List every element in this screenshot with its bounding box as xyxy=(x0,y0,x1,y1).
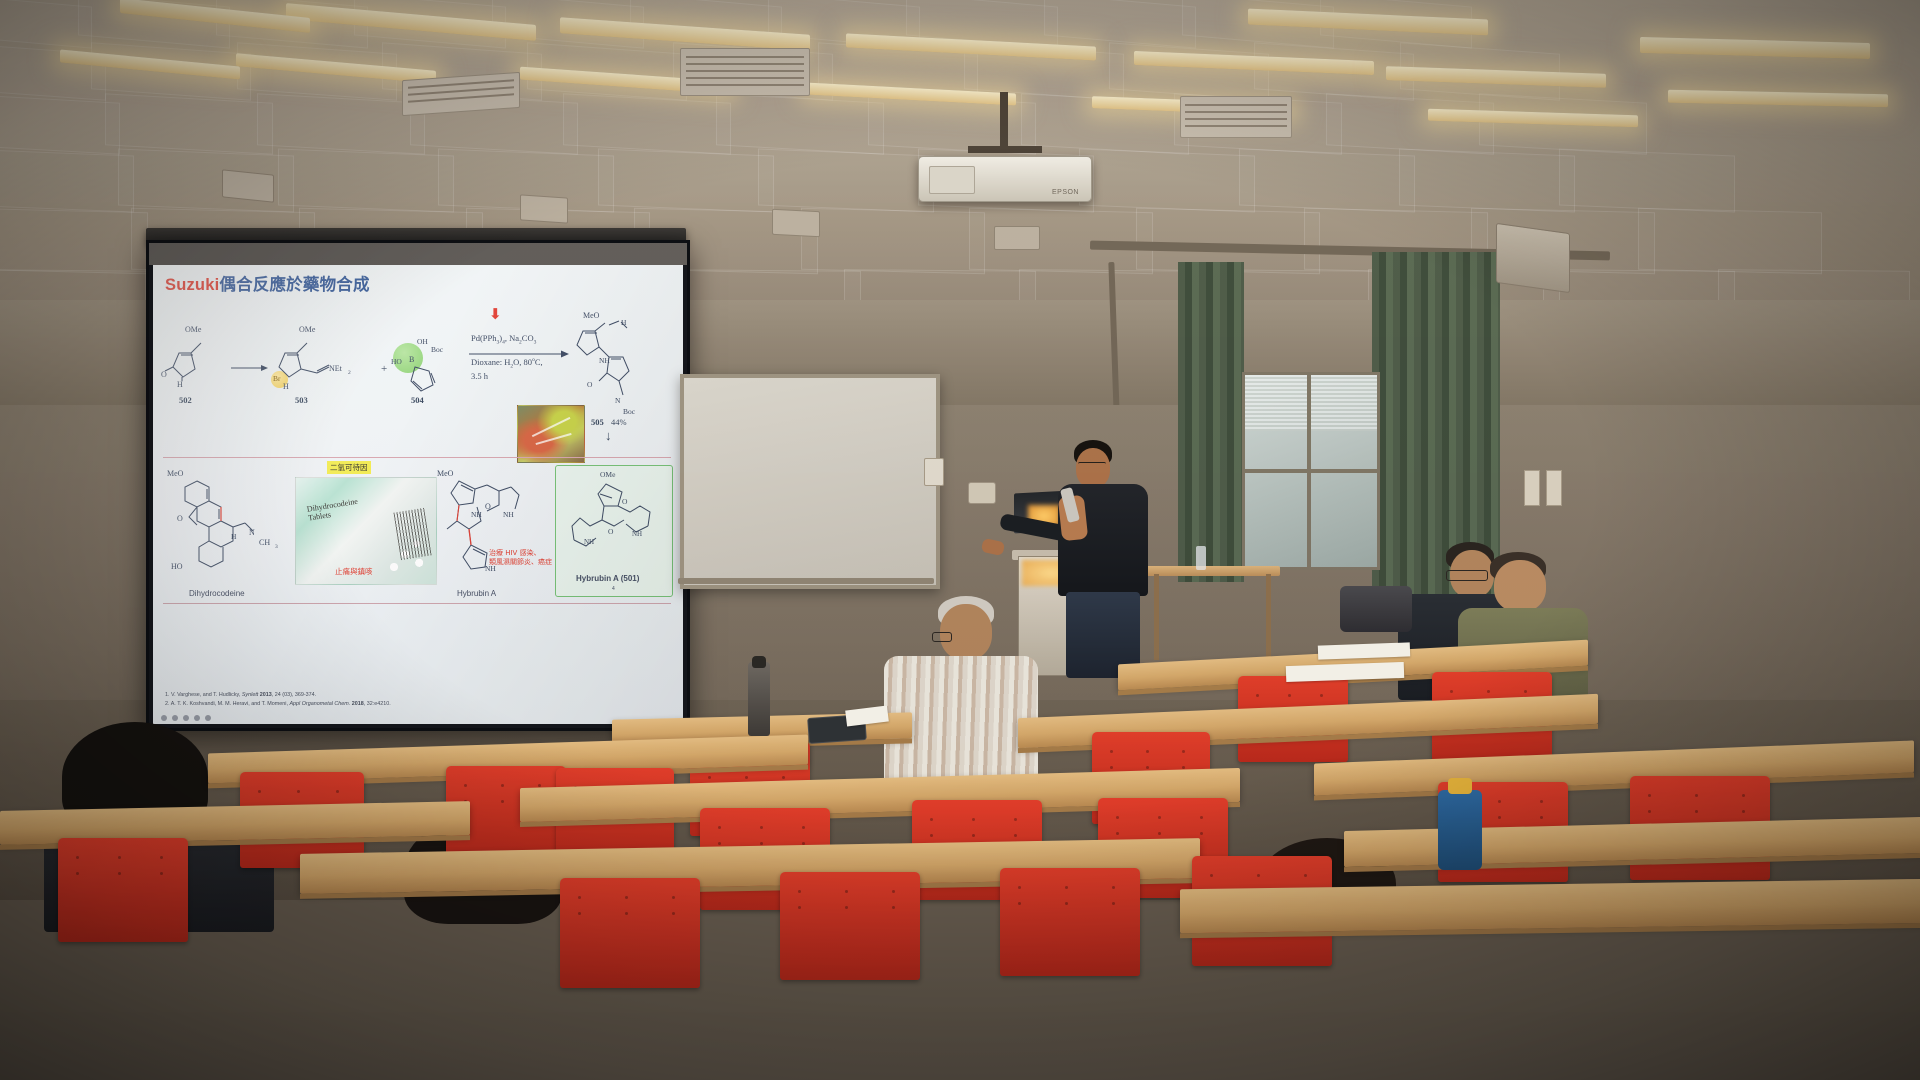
svg-text:NH: NH xyxy=(599,356,610,365)
lecture-hall-scene: EPSON Suzuki偶合反應於藥物合成 OMe xyxy=(0,0,1920,1080)
presentation-slide: Suzuki偶合反應於藥物合成 OMe O H 502 xyxy=(153,265,683,724)
wall-socket-1[interactable] xyxy=(1524,470,1540,506)
svg-text:H: H xyxy=(231,532,237,541)
svg-text:3: 3 xyxy=(275,544,278,550)
label-boron: B xyxy=(409,355,414,364)
compound-number-503: 503 xyxy=(295,395,308,405)
structure-503: H NEt 2 xyxy=(273,337,369,391)
dihydrocodeine-cn-highlight: 二氫可待因 xyxy=(327,461,371,474)
hybrubin-501-caption: Hybrubin A (501) xyxy=(576,574,639,583)
svg-text:N: N xyxy=(249,528,255,537)
svg-text:H: H xyxy=(177,380,183,389)
slideshow-next-icon[interactable] xyxy=(205,715,211,721)
svg-text:CH: CH xyxy=(259,538,270,547)
panel-divider-bottom xyxy=(163,603,671,604)
plus-sign: + xyxy=(381,363,387,375)
window-blind[interactable] xyxy=(1245,375,1377,431)
conditions-line-2: 3.5 h xyxy=(471,371,488,381)
references-list: 1. V. Varghese, and T. Hudlicky, Synlett… xyxy=(165,691,673,708)
chair[interactable] xyxy=(58,838,188,942)
svg-text:2: 2 xyxy=(348,370,351,376)
side-table xyxy=(1146,566,1280,576)
projector: EPSON xyxy=(918,156,1092,202)
label-boc-2: Boc xyxy=(623,407,635,416)
svg-text:O: O xyxy=(622,497,628,506)
backpack xyxy=(1340,586,1412,632)
pills-caption-cn: 止痛與鎮咳 xyxy=(335,567,373,577)
compound-505-yield: 44% xyxy=(611,417,627,427)
audience-right2-head xyxy=(1494,560,1546,612)
ceiling-speaker-1 xyxy=(222,169,274,202)
projector-grill xyxy=(929,166,975,194)
chair[interactable] xyxy=(1000,868,1140,976)
wall-outlet[interactable] xyxy=(968,482,996,504)
wall-socket-2[interactable] xyxy=(1546,470,1562,506)
svg-text:O: O xyxy=(608,527,614,536)
pills-photo-barcode xyxy=(393,508,431,560)
svg-text:O: O xyxy=(485,502,491,511)
compound-number-505: 505 xyxy=(591,417,604,427)
audience-center-glasses xyxy=(932,632,952,642)
presenter-head xyxy=(1076,448,1110,488)
ceiling-speaker-3 xyxy=(772,209,820,238)
arrow-502-to-503 xyxy=(231,363,269,373)
curtain-left xyxy=(1178,262,1244,582)
audience-right1-glasses xyxy=(1446,570,1488,581)
projector-brand-label: EPSON xyxy=(1052,189,1079,196)
svg-text:NH: NH xyxy=(471,510,482,519)
svg-text:HO: HO xyxy=(171,562,183,571)
ceiling-vent-1 xyxy=(680,48,810,96)
wall-switch-panel[interactable] xyxy=(924,458,944,486)
label-ome-2: OMe xyxy=(299,325,315,334)
conditions-line-1: Dioxane: H2O, 80oC, xyxy=(471,357,543,370)
screen-top-band xyxy=(149,243,687,265)
thermos-bottle xyxy=(748,662,770,736)
compound-number-502: 502 xyxy=(179,395,192,405)
black-down-arrow: ↓ xyxy=(605,429,612,442)
wall-speaker xyxy=(1496,223,1570,293)
structure-502: O H xyxy=(161,337,235,389)
hybrubin-501-box: OMe NH NH O O xyxy=(555,465,673,597)
projector-mount-bar xyxy=(968,146,1042,153)
presenter-glasses xyxy=(1078,462,1106,468)
reference-item-1: 1. V. Varghese, and T. Hudlicky, Synlett… xyxy=(165,691,673,699)
whiteboard-tray xyxy=(678,578,934,584)
slide-page-mark: 4 xyxy=(612,586,615,592)
label-ome-501: OMe xyxy=(600,470,615,479)
compound-number-504: 504 xyxy=(411,395,424,405)
svg-text:O: O xyxy=(161,370,167,379)
panel-divider-top xyxy=(163,457,671,458)
ceiling-vent-2 xyxy=(1180,96,1292,138)
slideshow-zoom-icon[interactable] xyxy=(194,715,200,721)
structure-dihydrocodeine: O N CH 3 H HO xyxy=(175,477,305,587)
svg-text:O: O xyxy=(587,380,593,389)
reagents-above-arrow: Pd(PPh3)4, Na2CO3 xyxy=(471,333,536,346)
slideshow-pen-icon[interactable] xyxy=(172,715,178,721)
svg-text:NH: NH xyxy=(632,530,642,538)
structure-hybrubin-501: NH NH O O xyxy=(562,480,672,572)
label-ho: HO xyxy=(391,357,402,366)
slideshow-menu-icon[interactable] xyxy=(183,715,189,721)
water-glass xyxy=(1196,546,1206,570)
red-down-arrow: ⬇ xyxy=(489,307,502,322)
label-boc-1: Boc xyxy=(431,345,443,354)
svg-text:NH: NH xyxy=(584,538,594,546)
coral-photo xyxy=(517,405,585,463)
svg-text:O: O xyxy=(177,514,183,523)
blue-water-bottle xyxy=(1438,790,1482,870)
side-table-leg-right xyxy=(1266,574,1271,660)
thermos-cap xyxy=(752,656,766,668)
slideshow-prev-icon[interactable] xyxy=(161,715,167,721)
svg-text:NEt: NEt xyxy=(329,364,343,373)
svg-text:H: H xyxy=(621,318,627,327)
svg-text:NH: NH xyxy=(503,510,514,519)
label-ome-1: OMe xyxy=(185,325,201,334)
window xyxy=(1242,372,1380,570)
hybrubin-indication-note: 治療 HIV 感染、 類風濕關節炎、癌症 xyxy=(489,549,552,568)
svg-text:N: N xyxy=(615,396,621,405)
hybrubin-caption: Hybrubin A xyxy=(457,589,496,598)
reference-item-2: 2. A. T. K. Koshvandi, M. M. Heravi, and… xyxy=(165,700,673,708)
ceiling-speaker-4 xyxy=(994,226,1040,250)
label-oh: OH xyxy=(417,337,428,346)
whiteboard xyxy=(680,374,940,589)
chair[interactable] xyxy=(560,878,700,988)
structure-hybrubin-a: NH NH NH O xyxy=(441,477,571,589)
ceiling-speaker-2 xyxy=(520,194,568,223)
side-table-leg-left xyxy=(1154,574,1159,660)
chair[interactable] xyxy=(780,872,920,980)
dihydrocodeine-caption: Dihydrocodeine xyxy=(189,589,245,598)
pills-photo-label: Dihydrocodeine Tablets xyxy=(306,490,406,523)
svg-text:H: H xyxy=(283,382,289,391)
projection-screen: Suzuki偶合反應於藥物合成 OMe O H 502 xyxy=(146,240,690,731)
slideshow-control-bar[interactable] xyxy=(161,715,211,721)
window-mullion-h xyxy=(1245,469,1377,473)
blue-bottle-cap xyxy=(1448,778,1472,794)
projector-mount-pole xyxy=(1000,92,1008,148)
